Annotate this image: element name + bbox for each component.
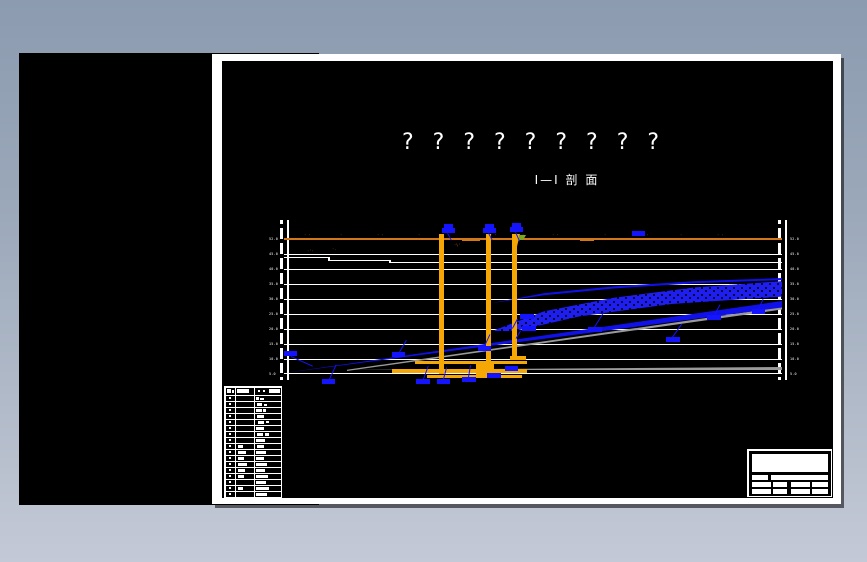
callout-label[interactable] [322,379,335,384]
gridline [284,284,782,285]
legend-row-divider [226,479,281,480]
y-tick-label-right: 25.0 [790,312,799,316]
legend-symbol [257,415,264,418]
y-tick-label-right: 5.0 [790,372,797,376]
legend-row-marker [229,469,231,471]
callout-label[interactable] [707,315,721,320]
legend-symbol [260,398,264,400]
gridline [284,269,782,270]
callout-label[interactable] [487,373,501,378]
legend-row-divider [226,443,281,444]
y-tick-label-left: 10.0 [269,357,278,361]
callout-label[interactable] [512,223,521,227]
legend-symbol [238,445,243,448]
callout-label[interactable] [588,327,602,332]
legend-row-divider [226,407,281,408]
y-tick-label-right: 10.0 [790,357,799,361]
legend-symbol [266,421,269,423]
diaphragm-wall-1 [439,234,444,374]
legend-symbol [257,403,262,406]
title-block-cell [791,489,810,494]
callout-label[interactable] [510,227,523,232]
y-tick-label-right: 45.0 [790,252,799,256]
callout-label[interactable] [437,379,450,384]
legend-row-divider [226,449,281,450]
drawing-canvas[interactable]: ? ? ? ? ? ? ? ? ? I—I 剖 面 52.0 45.0 [222,61,833,498]
gridline [284,254,782,255]
callout-label[interactable] [462,377,476,382]
callout-label[interactable] [522,326,536,331]
legend-symbol [256,481,266,484]
title-block-cell [752,482,771,487]
legend-row-divider [226,437,281,438]
legend-table[interactable] [224,386,282,498]
weathered-layer-line [389,262,782,263]
legend-header-cell [269,389,280,393]
drawing-title-placeholder: ? ? ? ? ? ? ? ? ? [402,130,662,155]
callout-label[interactable] [520,314,534,319]
y-tick-label-right: 20.0 [790,327,799,331]
legend-header-cell [227,389,231,393]
legend-header-cell [232,390,234,393]
legend-row-divider [226,425,281,426]
y-tick-label-left: 25.0 [269,312,278,316]
legend-symbol [256,469,265,472]
legend-row-divider [226,467,281,468]
y-tick-label-left: 45.0 [269,252,278,256]
y-tick-label-left: 15.0 [269,342,278,346]
callout-label[interactable] [392,352,405,357]
y-tick-label-left: 30.0 [269,297,278,301]
legend-symbol [256,451,266,454]
legend-row-divider [226,419,281,420]
legend-symbol [264,404,267,406]
base-connector [510,356,526,360]
legend-row-divider [226,485,281,486]
legend-symbol [256,409,262,412]
legend-symbol [238,451,246,454]
section-title: I—I 剖 面 [467,171,667,188]
legend-symbol [238,457,244,460]
gridline [284,359,782,360]
screenshot-root: ? ? ? ? ? ? ? ? ? I—I 剖 面 52.0 45.0 [0,0,867,562]
legend-row-marker [229,427,231,429]
title-block-cell [771,475,828,480]
legend-row-divider [226,455,281,456]
callout-label[interactable] [442,228,455,233]
legend-row-marker [229,493,231,495]
callout-label[interactable] [416,379,430,384]
legend-symbol [256,457,264,460]
legend-table-body [226,388,281,497]
legend-row-marker [229,409,231,411]
legend-row-marker [229,457,231,459]
ground-surface-line [284,238,782,240]
legend-row-divider [226,473,281,474]
legend-row-marker [229,421,231,423]
title-block-project-cell [752,454,828,472]
legend-header-cell [263,390,265,392]
title-block-cell [773,482,787,487]
legend-symbol [258,421,264,424]
legend-row-divider [226,491,281,492]
legend-header-cell [237,389,249,393]
title-block-cell [773,489,787,494]
title-block-cell [812,482,828,487]
ground-dip [580,238,594,241]
legend-symbol [238,487,243,490]
legend-symbol [256,475,268,478]
legend-symbol [238,475,244,478]
y-tick-label-left: 52.0 [269,237,278,241]
legend-header-cell [258,390,260,392]
legend-symbol [256,439,265,442]
y-tick-label-left: 40.0 [269,267,278,271]
legend-symbol [256,493,267,496]
legend-row-divider [226,401,281,402]
legend-row-marker [229,445,231,447]
y-tick-label-right: 15.0 [790,342,799,346]
legend-symbol [238,469,245,472]
y-tick-label-left: 35.0 [269,282,278,286]
callout-label[interactable] [752,309,765,314]
legend-symbol [257,433,263,436]
diaphragm-wall-2 [486,234,491,377]
legend-row-marker [229,487,231,489]
legend-symbol [256,463,267,466]
y-tick-label-right: 30.0 [790,297,799,301]
callout-label[interactable] [666,337,680,342]
base-strut-upper [415,361,527,364]
y-tick-label-right: 52.0 [790,237,799,241]
gridline [284,373,782,374]
title-block-body [749,451,831,496]
callout-label[interactable] [444,224,453,228]
legend-symbol [238,463,247,466]
legend-row-divider [226,461,281,462]
legend-row-marker [229,433,231,435]
callout-label[interactable] [485,224,494,228]
callout-label[interactable] [505,366,518,371]
legend-row-marker [229,415,231,417]
title-block-cell [752,489,771,494]
legend-row-marker [229,439,231,441]
weathered-layer-line [328,260,390,261]
legend-row-marker [229,451,231,453]
legend-row-marker [229,397,231,399]
y-axis-right-bar-2 [785,220,787,380]
legend-symbol [257,445,264,448]
y-tick-label-left: 5.0 [269,372,276,376]
legend-row-marker [229,475,231,477]
title-block-cell [812,489,828,494]
callout-label[interactable] [632,231,645,236]
y-tick-label-left: 20.0 [269,327,278,331]
legend-row-divider [226,413,281,414]
legend-symbol [256,487,269,490]
legend-symbol [265,433,269,436]
ground-dip [462,238,480,241]
legend-symbol [263,409,266,412]
legend-row-marker [229,463,231,465]
weathered-layer-line [284,257,328,258]
title-block-cell [791,482,810,487]
callout-label[interactable] [478,346,491,351]
y-tick-label-right: 35.0 [790,282,799,286]
legend-symbol [256,397,259,400]
legend-row-divider [226,395,281,396]
title-block-cell [752,475,768,480]
legend-symbol [256,427,264,430]
legend-row-marker [229,403,231,405]
callout-label[interactable] [483,228,496,233]
legend-row-divider [226,431,281,432]
legend-row-marker [229,481,231,483]
y-tick-label-right: 40.0 [790,267,799,271]
title-block[interactable] [747,449,832,497]
